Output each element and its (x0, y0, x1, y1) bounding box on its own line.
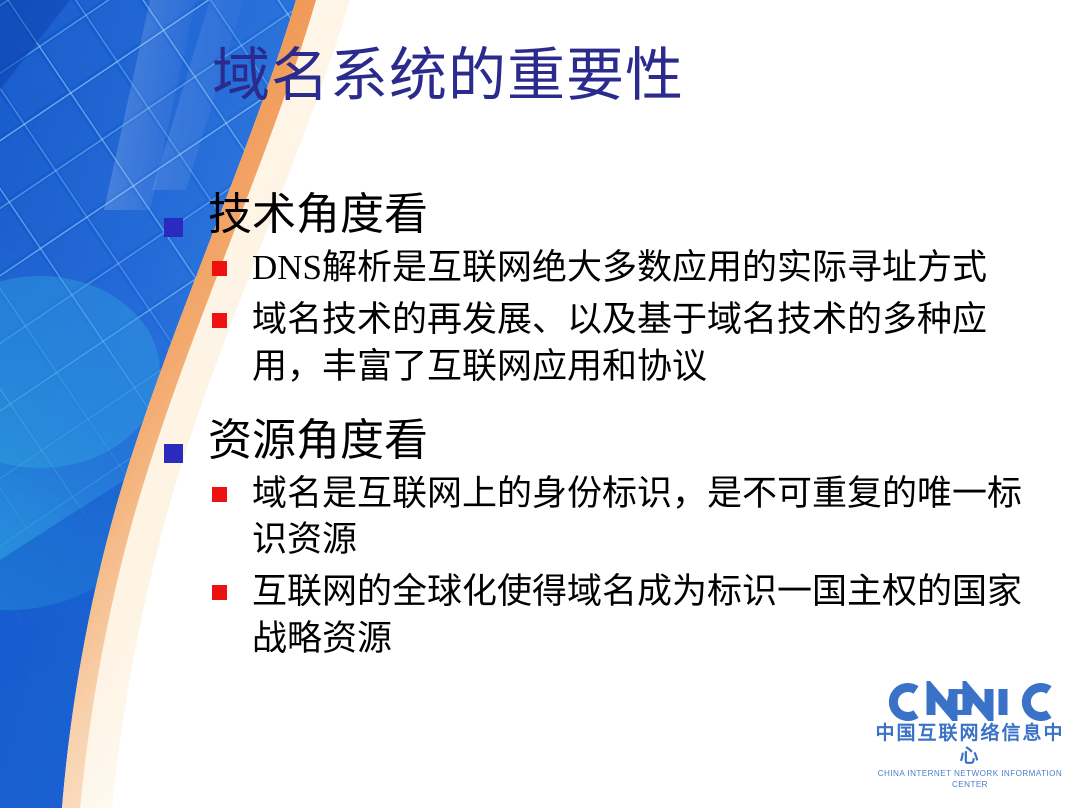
square-bullet-icon (212, 261, 227, 276)
bullet-level2-label: 互联网的全球化使得域名成为标识一国主权的国家战略资源 (252, 572, 1022, 657)
bullet-level2-label: DNS解析是互联网绝大多数应用的实际寻址方式 (252, 248, 987, 287)
bullet-level2-item: DNS解析是互联网绝大多数应用的实际寻址方式 (160, 245, 1050, 291)
slide-body: 技术角度看 DNS解析是互联网绝大多数应用的实际寻址方式 域名技术的再发展、以及… (160, 190, 1050, 662)
bullet-level2-label: 域名是互联网上的身份标识，是不可重复的唯一标识资源 (252, 474, 1022, 559)
bullet-level2-item: 域名是互联网上的身份标识，是不可重复的唯一标识资源 (160, 471, 1050, 563)
bullet-level2-item: 互联网的全球化使得域名成为标识一国主权的国家战略资源 (160, 569, 1050, 661)
square-bullet-icon (164, 444, 183, 463)
cnnic-logo-chinese: 中国互联网络信息中心 (875, 722, 1065, 770)
square-bullet-icon (212, 487, 227, 502)
square-bullet-icon (164, 218, 183, 237)
square-bullet-icon (212, 313, 227, 328)
slide-title: 域名系统的重要性 (212, 44, 684, 109)
bullet-level1-label: 资源角度看 (208, 416, 428, 465)
presentation-slide: 域名系统的重要性 技术角度看 DNS解析是互联网绝大多数应用的实际寻址方式 域名… (0, 0, 1077, 808)
cnnic-wordmark-icon (881, 681, 1059, 721)
bullet-level2-label: 域名技术的再发展、以及基于域名技术的多种应用，丰富了互联网应用和协议 (252, 300, 987, 385)
bullet-level1-resource: 资源角度看 (160, 416, 1050, 465)
cnnic-logo-english: CHINA INTERNET NETWORK INFORMATION CENTE… (873, 769, 1067, 790)
bullet-level1-label: 技术角度看 (208, 190, 428, 239)
section-spacer (160, 390, 1050, 416)
bullet-level1-technology: 技术角度看 (160, 190, 1050, 239)
cnnic-logo: 中国互联网络信息中心 CHINA INTERNET NETWORK INFORM… (875, 681, 1065, 790)
bullet-level2-item: 域名技术的再发展、以及基于域名技术的多种应用，丰富了互联网应用和协议 (160, 297, 1050, 389)
square-bullet-icon (212, 585, 227, 600)
